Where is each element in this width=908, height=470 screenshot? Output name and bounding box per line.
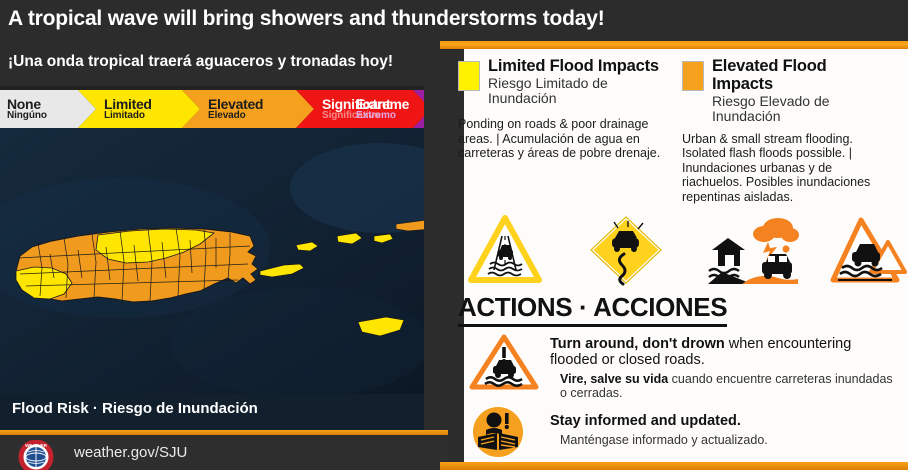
action-es-rest-stay-informed: Manténgase informado y actualizado. — [560, 433, 768, 447]
turn-around-dont-drown-icon — [468, 333, 540, 391]
svg-text:WEATHER: WEATHER — [25, 443, 48, 448]
action-text-en-turn-around: Turn around, don't drown when encounteri… — [550, 337, 898, 369]
nws-seal: WEATHER — [10, 440, 62, 470]
risk-level-none-es: Ningúno — [7, 111, 96, 122]
hazard-icon-row — [452, 214, 908, 288]
impact-subtitle-elevated: Riesgo Elevado de Inundación — [712, 94, 890, 125]
stay-informed-person-reading-icon — [468, 404, 528, 460]
actions-heading: ACTIONS · ACCIONES — [458, 292, 727, 327]
risk-level-none-en: None — [7, 97, 96, 111]
slippery-road-diamond-icon — [588, 214, 664, 286]
map-graphic — [0, 128, 448, 400]
action-en-bold-stay-informed: Stay informed and updated. — [550, 413, 741, 429]
right-panel-bottom-stripe — [440, 462, 908, 470]
action-text-es-turn-around: Vire, salve su vida cuando encuentre car… — [550, 372, 898, 400]
flooded-road-triangle-icon — [468, 214, 542, 286]
flooded-house-and-car-icon — [706, 214, 800, 286]
risk-level-limited: Limited Limitado — [78, 90, 200, 128]
impact-card-limited: Limited Flood Impacts Riesgo Limitado de… — [458, 58, 676, 161]
impact-swatch-limited — [458, 61, 480, 91]
impact-subtitle-limited: Riesgo Limitado de Inundación — [488, 76, 676, 107]
action-en-bold-turn-around: Turn around, don't drown — [550, 336, 725, 352]
impact-title-limited: Limited Flood Impacts — [488, 58, 676, 76]
impact-swatch-elevated — [682, 61, 704, 91]
risk-level-elevated-en: Elevated — [208, 97, 314, 111]
risk-level-limited-es: Limitado — [104, 111, 200, 122]
header-bar: A tropical wave will bring showers and t… — [0, 0, 908, 42]
risk-level-none: None Ningúno — [0, 90, 96, 128]
header-accent-left — [0, 41, 440, 45]
page-subtitle: ¡Una onda tropical traerá aguaceros y tr… — [8, 53, 393, 71]
action-text-es-stay-informed: Manténgase informado y actualizado. — [550, 433, 898, 447]
impact-title-elevated: Elevated Flood Impacts — [712, 58, 890, 94]
car-in-floodwater-triangle-icon — [830, 214, 908, 286]
risk-level-limited-en: Limited — [104, 97, 200, 111]
impact-body-elevated: Urban & small stream flooding. Isolated … — [682, 132, 890, 205]
risk-level-elevated: Elevated Elevado — [182, 90, 314, 128]
map-caption: Flood Risk · Riesgo de Inundación — [12, 400, 448, 428]
header-accent-stripe — [440, 41, 908, 49]
page-title: A tropical wave will bring showers and t… — [8, 7, 605, 31]
action-text-en-stay-informed: Stay informed and updated. — [550, 414, 898, 430]
footer-bar — [0, 435, 448, 470]
action-item-turn-around: Turn around, don't drown when encounteri… — [468, 333, 898, 395]
impact-body-limited: Ponding on roads & poor drainage areas. … — [458, 117, 676, 161]
flood-risk-map — [0, 128, 448, 400]
infographic-root: A tropical wave will bring showers and t… — [0, 0, 908, 470]
action-es-bold-turn-around: Vire, salve su vida — [560, 372, 668, 386]
action-item-stay-informed: Stay informed and updated. Manténgase in… — [468, 404, 898, 462]
impact-card-elevated: Elevated Flood Impacts Riesgo Elevado de… — [682, 58, 890, 204]
agency-url[interactable]: weather.gov/SJU — [74, 444, 187, 461]
risk-level-elevated-es: Elevado — [208, 111, 314, 122]
